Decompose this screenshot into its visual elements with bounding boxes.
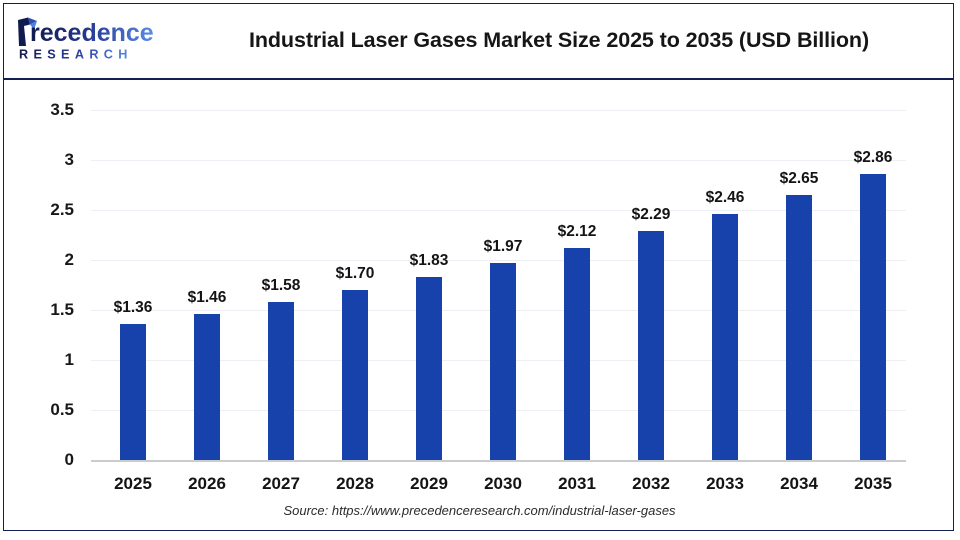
bar-group[interactable]: $2.292032 — [614, 80, 688, 532]
bar-group[interactable]: $1.362025 — [96, 80, 170, 532]
bar-group[interactable]: $1.462026 — [170, 80, 244, 532]
bar-value-label: $2.86 — [854, 149, 893, 167]
bar[interactable] — [490, 263, 516, 460]
bar-value-label: $2.29 — [632, 206, 671, 224]
bar-value-label: $1.36 — [114, 299, 153, 317]
logo-wordmark-icon: recedence — [15, 16, 165, 50]
svg-text:RESEARCH: RESEARCH — [19, 47, 133, 61]
bar-group[interactable]: $2.122031 — [540, 80, 614, 532]
bar-series: $1.362025$1.462026$1.582027$1.702028$1.8… — [4, 80, 955, 532]
x-axis-tick-label: 2032 — [632, 474, 670, 494]
bar-value-label: $1.46 — [188, 289, 227, 307]
bar[interactable] — [342, 290, 368, 460]
bar-group[interactable]: $1.972030 — [466, 80, 540, 532]
bar-group[interactable]: $2.652034 — [762, 80, 836, 532]
bar[interactable] — [194, 314, 220, 460]
x-axis-tick-label: 2029 — [410, 474, 448, 494]
bar-value-label: $2.46 — [706, 189, 745, 207]
x-axis-tick-label: 2033 — [706, 474, 744, 494]
bar-group[interactable]: $2.862035 — [836, 80, 910, 532]
chart-figure: recedence RESEARCH Industrial Laser Gase… — [3, 3, 954, 531]
page-title: Industrial Laser Gases Market Size 2025 … — [174, 28, 944, 53]
bar-group[interactable]: $1.582027 — [244, 80, 318, 532]
bar-group[interactable]: $1.832029 — [392, 80, 466, 532]
bar-group[interactable]: $1.702028 — [318, 80, 392, 532]
bar-value-label: $1.97 — [484, 238, 523, 256]
logo-subtext-icon: RESEARCH — [19, 46, 165, 62]
x-axis-tick-label: 2034 — [780, 474, 818, 494]
precedence-research-logo: recedence RESEARCH — [15, 16, 165, 72]
bar-value-label: $1.58 — [262, 277, 301, 295]
bar[interactable] — [638, 231, 664, 460]
plot-area: 00.511.522.533.5 $1.362025$1.462026$1.58… — [4, 80, 955, 532]
bar[interactable] — [786, 195, 812, 460]
x-axis-tick-label: 2030 — [484, 474, 522, 494]
bar[interactable] — [416, 277, 442, 460]
bar[interactable] — [120, 324, 146, 460]
bar[interactable] — [860, 174, 886, 460]
x-axis-tick-label: 2025 — [114, 474, 152, 494]
bar[interactable] — [564, 248, 590, 460]
bar-value-label: $2.65 — [780, 170, 819, 188]
bar-value-label: $1.83 — [410, 252, 449, 270]
x-axis-tick-label: 2031 — [558, 474, 596, 494]
chart-header: recedence RESEARCH Industrial Laser Gase… — [4, 4, 953, 80]
x-axis-tick-label: 2026 — [188, 474, 226, 494]
bar-group[interactable]: $2.462033 — [688, 80, 762, 532]
bar-value-label: $1.70 — [336, 265, 375, 283]
x-axis-tick-label: 2027 — [262, 474, 300, 494]
svg-text:recedence: recedence — [30, 19, 154, 47]
x-axis-tick-label: 2035 — [854, 474, 892, 494]
x-axis-tick-label: 2028 — [336, 474, 374, 494]
source-caption: Source: https://www.precedenceresearch.c… — [4, 503, 955, 518]
bar[interactable] — [268, 302, 294, 460]
bar-value-label: $2.12 — [558, 223, 597, 241]
bar[interactable] — [712, 214, 738, 460]
